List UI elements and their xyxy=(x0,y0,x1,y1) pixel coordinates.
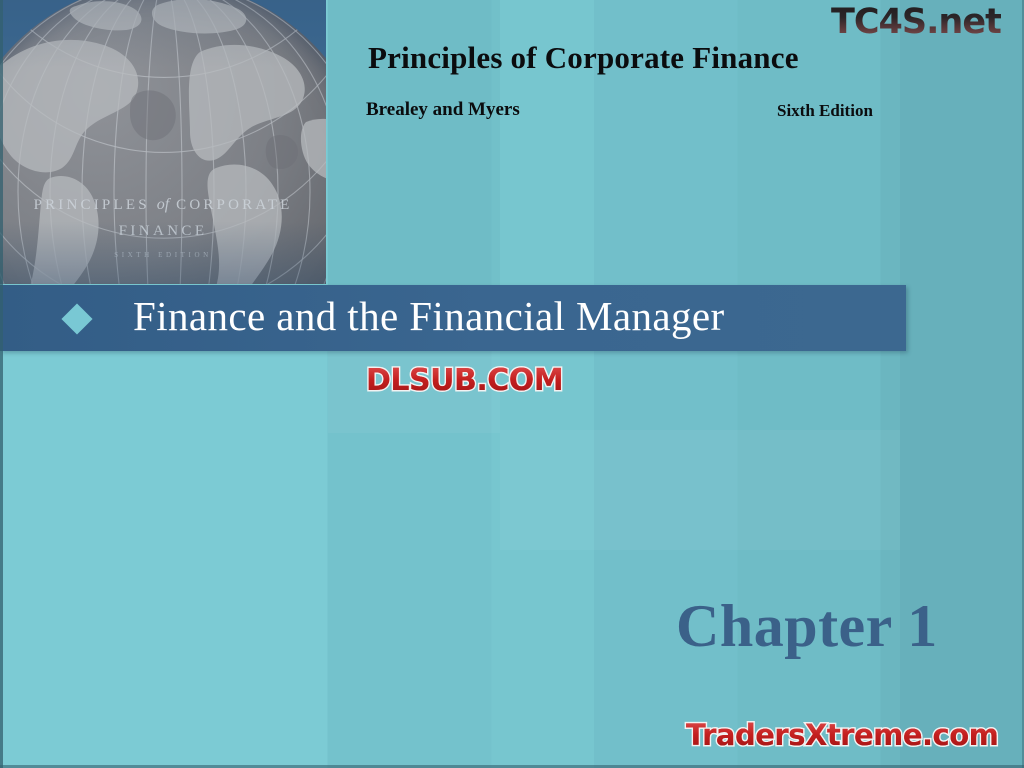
slide-title-band: Finance and the Financial Manager xyxy=(0,285,906,351)
book-title-heading: Principles of Corporate Finance xyxy=(368,40,799,76)
chapter-label: Chapter 1 xyxy=(676,592,938,661)
cover-edition-label: SIXTH EDITION xyxy=(0,251,326,259)
watermark-dlsub: DLSUB.COM xyxy=(366,363,563,398)
cover-title-suffix: CORPORATE xyxy=(176,197,292,213)
slide-canvas: PRINCIPLES of CORPORATE FINANCE SIXTH ED… xyxy=(0,0,1024,768)
background-patch xyxy=(500,430,900,550)
slide-title-text: Finance and the Financial Manager xyxy=(133,292,725,340)
watermark-tradersxtreme: TradersXtreme.com xyxy=(686,718,998,752)
slide-left-border xyxy=(0,0,3,768)
cover-title-finance: FINANCE xyxy=(0,223,326,240)
book-author-label: Brealey and Myers xyxy=(366,99,520,121)
diamond-bullet-icon xyxy=(61,303,92,334)
watermark-tc4s: TC4S.net xyxy=(831,2,1001,42)
book-edition-label: Sixth Edition xyxy=(777,101,873,121)
book-cover-title: PRINCIPLES of CORPORATE FINANCE SIXTH ED… xyxy=(0,196,326,259)
cover-title-of: of xyxy=(157,196,169,213)
book-cover-image: PRINCIPLES of CORPORATE FINANCE SIXTH ED… xyxy=(0,0,326,284)
cover-title-prefix: PRINCIPLES xyxy=(34,197,150,213)
